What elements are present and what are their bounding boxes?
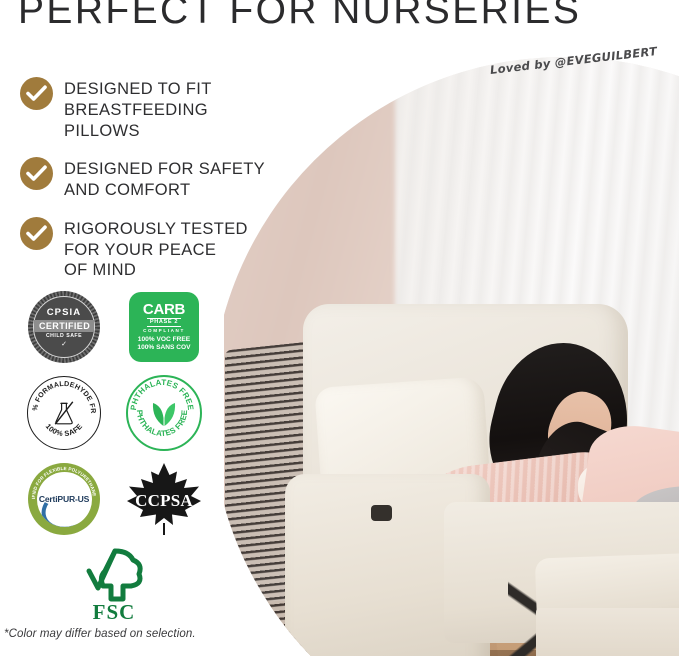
- certification-badge-grid: CPSIA CERTIFIED CHILD SAFE ✓ CARB PHASE …: [14, 284, 214, 628]
- carb-phase2-badge: CARB PHASE 2 COMPLIANT 100% VOC FREE 100…: [129, 292, 199, 362]
- promo-panel: PERFECT FOR NURSERIES Loved by @EVEGUILB…: [0, 0, 679, 656]
- leaf-icon: [149, 398, 179, 428]
- feature-label: RIGOROUSLY TESTED FOR YOUR PEACE OF MIND: [64, 216, 248, 281]
- feature-label: DESIGNED FOR SAFETY AND COMFORT: [64, 156, 265, 201]
- no-flask-icon: [52, 400, 76, 426]
- feature-item: DESIGNED TO FIT BREASTFEEDING PILLOWS: [20, 76, 288, 141]
- carb-title: CARB: [143, 302, 185, 317]
- cpsia-title: CPSIA: [47, 307, 82, 318]
- carb-compliant-label: COMPLIANT: [143, 328, 185, 333]
- carb-phase-label: PHASE 2: [147, 318, 181, 327]
- cpsia-check-icon: ✓: [61, 340, 67, 348]
- certification-cell: CERTIFIED FOR FLEXIBLE POLYURETHANE FOAM…: [14, 456, 114, 542]
- cpsia-childsafe-label: CHILD SAFE: [46, 333, 82, 339]
- cpsia-certified-label: CERTIFIED: [34, 320, 94, 332]
- cpsia-badge-inner: CPSIA CERTIFIED CHILD SAFE ✓: [33, 296, 95, 358]
- fsc-badge: FSC: [71, 547, 157, 623]
- phthalates-free-badge: PHTHALATES FREE PHTHALATES FREE: [126, 375, 202, 451]
- color-disclaimer: *Color may differ based on selection.: [4, 628, 196, 640]
- feature-label: DESIGNED TO FIT BREASTFEEDING PILLOWS: [64, 76, 288, 141]
- check-circle-icon: [20, 157, 53, 190]
- certification-cell: PHTHALATES FREE PHTHALATES FREE: [114, 370, 214, 456]
- certipur-badge-inner: CertiPUR-US: [37, 472, 92, 527]
- page-title: PERFECT FOR NURSERIES: [18, 0, 581, 33]
- feature-item: RIGOROUSLY TESTED FOR YOUR PEACE OF MIND: [20, 216, 288, 281]
- photo-artwork: [224, 57, 679, 656]
- certification-row: CPSIA CERTIFIED CHILD SAFE ✓ CARB PHASE …: [14, 284, 214, 370]
- recliner-control-knob: [371, 505, 392, 521]
- certipur-label: CertiPUR-US: [39, 494, 89, 504]
- formaldehyde-free-badge: 100% FORMALDEHYDE FREE 100% SAFE: [27, 376, 101, 450]
- recliner-base-skirt: [536, 608, 679, 656]
- check-circle-icon: [20, 217, 53, 250]
- feature-list: DESIGNED TO FIT BREASTFEEDING PILLOWS DE…: [20, 76, 288, 296]
- certification-cell: CPSIA CERTIFIED CHILD SAFE ✓: [14, 284, 114, 370]
- certification-row: CERTIFIED FOR FLEXIBLE POLYURETHANE FOAM…: [14, 456, 214, 542]
- carb-voc-label: 100% VOC FREE 100% SANS COV: [137, 336, 190, 352]
- photo-circular-mask: [224, 57, 679, 656]
- cpsia-certified-badge: CPSIA CERTIFIED CHILD SAFE ✓: [28, 291, 100, 363]
- certipur-us-badge: CERTIFIED FOR FLEXIBLE POLYURETHANE FOAM…: [28, 463, 100, 535]
- feature-item: DESIGNED FOR SAFETY AND COMFORT: [20, 156, 288, 201]
- certification-cell: CCPSA: [114, 456, 214, 542]
- fsc-label: FSC: [71, 600, 157, 625]
- ccpsa-badge: CCPSA: [125, 461, 203, 537]
- check-circle-icon: [20, 77, 53, 110]
- certification-row: FSC: [14, 542, 214, 628]
- lifestyle-photo: [224, 57, 679, 656]
- certification-cell: 100% FORMALDEHYDE FREE 100% SAFE: [14, 370, 114, 456]
- ccpsa-label: CCPSA: [125, 491, 203, 511]
- certification-cell: CARB PHASE 2 COMPLIANT 100% VOC FREE 100…: [114, 284, 214, 370]
- certification-row: 100% FORMALDEHYDE FREE 100% SAFE: [14, 370, 214, 456]
